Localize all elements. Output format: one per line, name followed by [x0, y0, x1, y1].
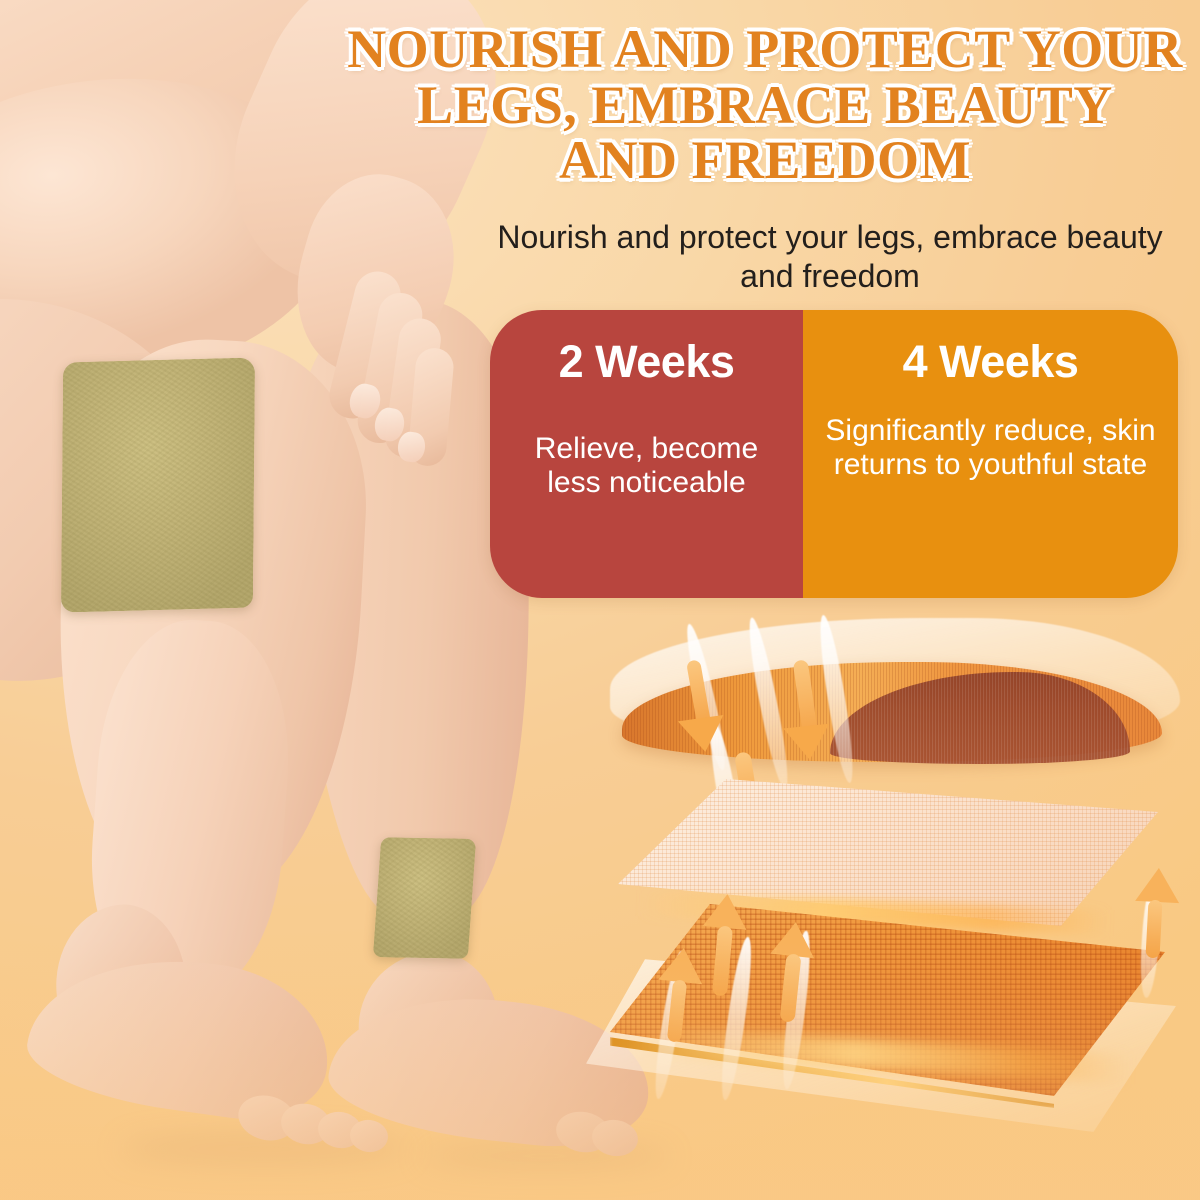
up-arrow-icon	[703, 892, 750, 930]
up-arrow-icon	[1135, 867, 1181, 903]
up-arrow-icon	[770, 920, 817, 958]
timeline-column-2-weeks: 2 Weeks Relieve, become less noticeable	[490, 310, 803, 598]
headline-line-2: LEGS, EMBRACE BEAUTY	[340, 78, 1190, 134]
down-arrow-icon	[678, 715, 728, 755]
timeline-column-4-weeks: 4 Weeks Significantly reduce, skin retur…	[803, 310, 1178, 598]
headline-line-1: NOURISH AND PROTECT YOUR	[340, 22, 1190, 78]
headline-line-3: AND FREEDOM	[340, 133, 1190, 189]
patch-layers-illustration	[600, 600, 1200, 1110]
column-title: 4 Weeks	[819, 336, 1162, 388]
promo-banner: NOURISH AND PROTECT YOUR LEGS, EMBRACE B…	[0, 0, 1200, 1200]
column-body: Relieve, become less noticeable	[506, 432, 787, 500]
ankle-patch	[373, 837, 476, 959]
column-title: 2 Weeks	[506, 336, 787, 388]
knee-patch	[61, 357, 255, 612]
down-arrow-icon	[783, 724, 832, 763]
headline: NOURISH AND PROTECT YOUR LEGS, EMBRACE B…	[340, 22, 1190, 189]
arrow-shaft	[1145, 900, 1162, 959]
subheadline: Nourish and protect your legs, embrace b…	[470, 218, 1190, 296]
timeline-card: 2 Weeks Relieve, become less noticeable …	[490, 310, 1178, 598]
column-body: Significantly reduce, skin returns to yo…	[819, 414, 1162, 482]
up-arrow-icon	[658, 946, 705, 984]
